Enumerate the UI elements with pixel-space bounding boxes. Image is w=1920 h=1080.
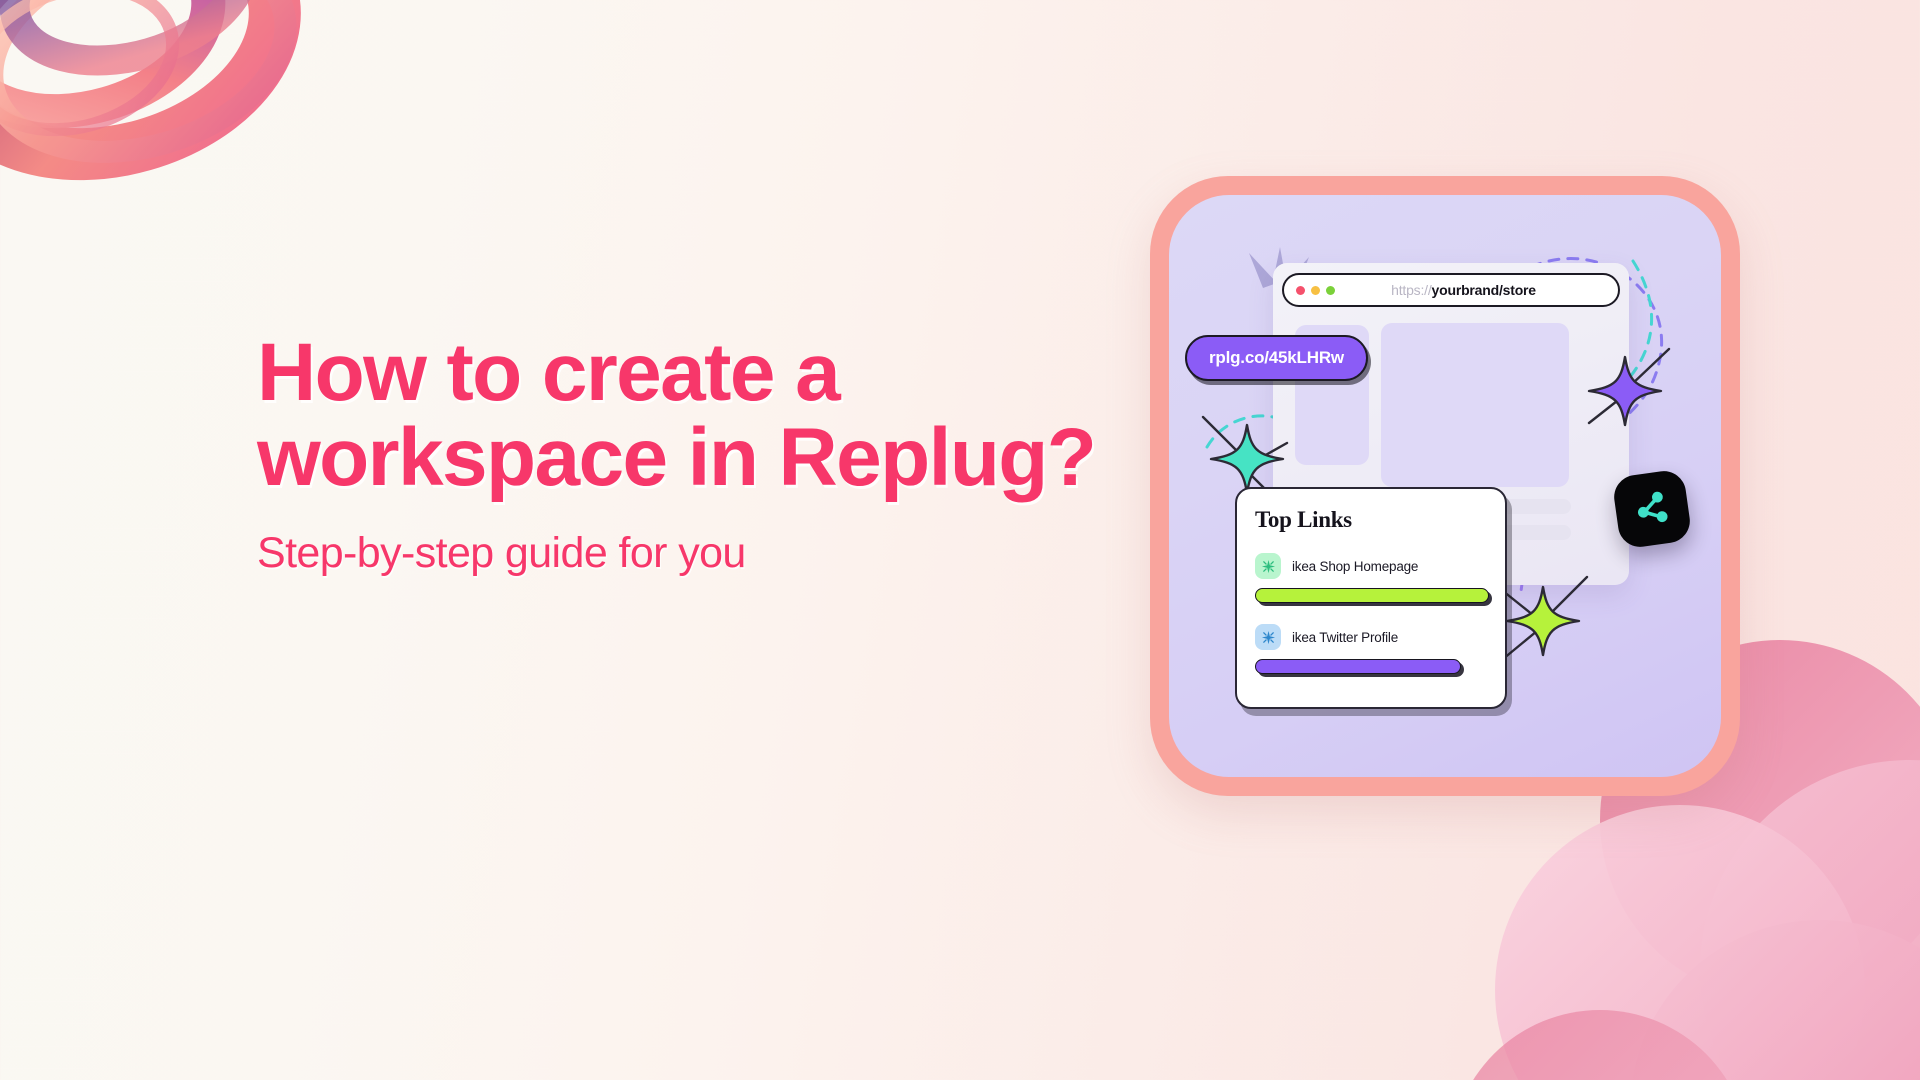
url-text: https://yourbrand/store: [1335, 282, 1618, 298]
page-title: How to create a workspace in Replug?: [257, 330, 1157, 501]
content-placeholder-right: [1381, 323, 1569, 487]
decor-top-left-ribbon: [0, 0, 360, 250]
browser-address-bar[interactable]: https://yourbrand/store: [1282, 273, 1620, 307]
top-links-bar-wrap: [1255, 588, 1489, 604]
top-links-row[interactable]: ikea Twitter Profile: [1255, 624, 1489, 650]
sparkle-icon: [1255, 624, 1281, 650]
traffic-lights: [1284, 286, 1335, 295]
page-title-line-2: workspace in Replug?: [257, 415, 1157, 500]
minimize-dot-icon: [1311, 286, 1320, 295]
page-title-line-1: How to create a: [257, 327, 839, 418]
url-host: yourbrand/store: [1432, 282, 1536, 298]
page-subtitle: Step-by-step guide for you: [257, 529, 1157, 578]
maximize-dot-icon: [1326, 286, 1335, 295]
share-network-icon: [1629, 484, 1675, 534]
url-scheme: https://: [1391, 282, 1431, 298]
top-links-progress-bar: [1255, 659, 1461, 674]
top-links-item-label: ikea Shop Homepage: [1292, 559, 1418, 574]
top-links-title: Top Links: [1255, 507, 1489, 533]
close-dot-icon: [1296, 286, 1305, 295]
share-badge[interactable]: [1611, 468, 1692, 549]
top-links-card: Top Links ikea Shop Homepage: [1235, 487, 1507, 709]
short-link-pill[interactable]: rplg.co/45kLHRw: [1185, 335, 1368, 381]
illustration-canvas: https://yourbrand/store rplg.co/45kLHRw: [1169, 195, 1721, 777]
top-links-row[interactable]: ikea Shop Homepage: [1255, 553, 1489, 579]
top-links-progress-bar: [1255, 588, 1489, 603]
top-links-bar-wrap: [1255, 659, 1489, 675]
hero-text-block: How to create a workspace in Replug? Ste…: [257, 330, 1157, 578]
illustration-card: https://yourbrand/store rplg.co/45kLHRw: [1150, 176, 1740, 796]
sparkle-icon: [1255, 553, 1281, 579]
top-links-item-label: ikea Twitter Profile: [1292, 630, 1398, 645]
